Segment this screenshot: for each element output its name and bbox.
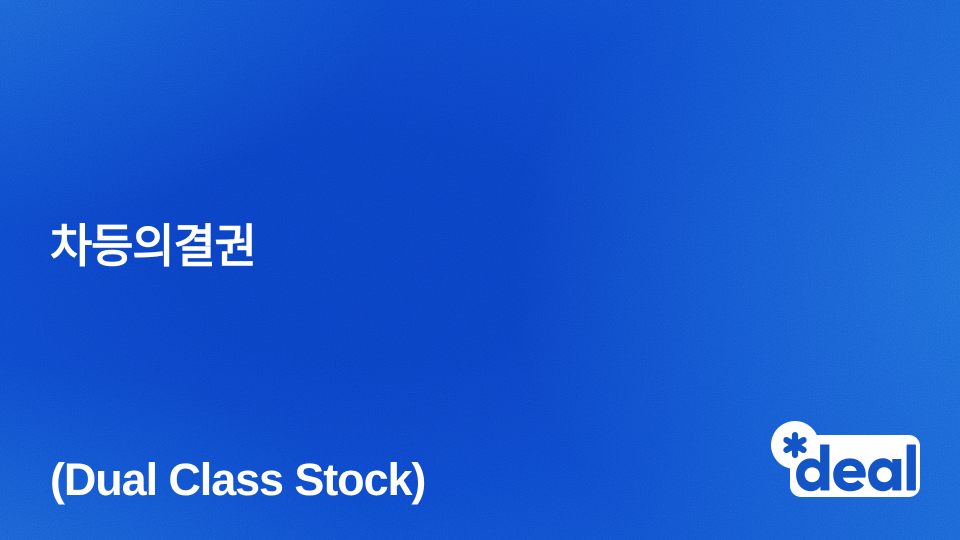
title-slide: 차등의결권 (Dual Class Stock) (0, 0, 960, 540)
page-title: 차등의결권 (Dual Class Stock) (50, 52, 425, 540)
page-title-english: (Dual Class Stock) (50, 441, 425, 518)
deal-logo (770, 420, 922, 500)
page-title-korean: 차등의결권 (50, 207, 425, 286)
